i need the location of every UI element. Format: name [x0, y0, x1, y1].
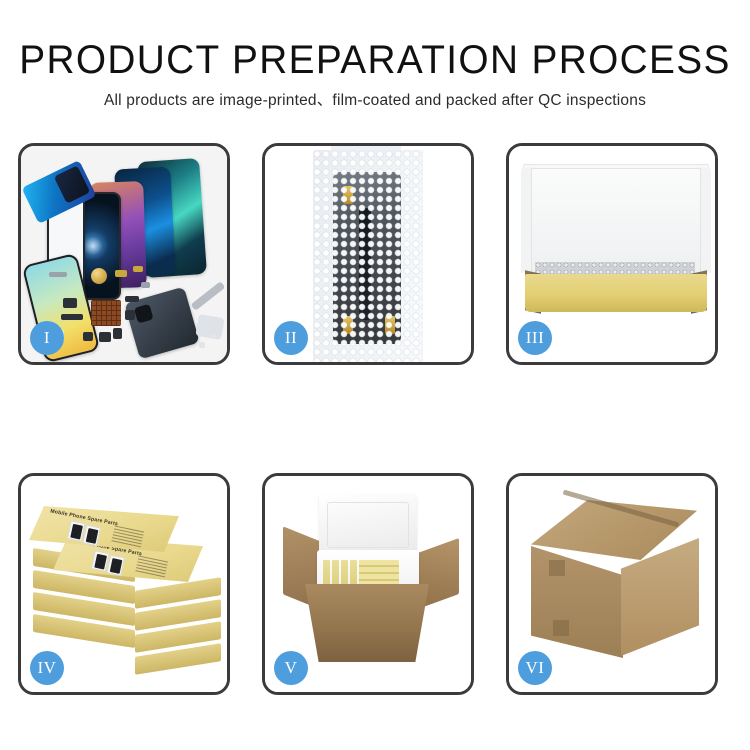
part-icon: [61, 314, 83, 320]
carton-left-face: [531, 546, 623, 658]
box-front-panel: [525, 274, 707, 312]
step-panel-3-open-kraft-box: III: [506, 143, 718, 365]
step-badge-6: VI: [518, 651, 552, 685]
page-subtitle: All products are image-printed、film-coat…: [0, 91, 750, 111]
part-icon: [141, 282, 150, 288]
step-badge-4: IV: [30, 651, 64, 685]
part-icon: [49, 272, 67, 277]
steps-grid: I II: [18, 143, 732, 695]
part-icon: [125, 296, 139, 302]
part-icon: [133, 266, 143, 272]
step-numeral: II: [285, 328, 297, 348]
step-panel-4-stacked-boxes: Mobile Phone Spare Parts Mobile Phone Sp…: [18, 473, 230, 695]
page-title: PRODUCT PREPARATION PROCESS: [11, 38, 739, 82]
step-numeral: V: [285, 658, 298, 678]
part-icon: [113, 328, 122, 339]
step-badge-5: V: [274, 651, 308, 685]
step-badge-1: I: [30, 321, 64, 355]
step-numeral: I: [44, 328, 50, 348]
part-icon: [211, 334, 216, 339]
box-thumbnail: [82, 525, 101, 547]
step-numeral: IV: [38, 658, 57, 678]
part-icon: [99, 332, 111, 342]
part-icon: [83, 332, 93, 341]
speaker-coil-icon: [91, 268, 107, 284]
box-spec-lines: [111, 525, 144, 549]
carton-body: [305, 584, 429, 662]
carton-tape-lower: [553, 620, 569, 636]
bubble-bag: [313, 150, 423, 362]
bubble-texture: [313, 150, 423, 362]
box-thumbnail: [106, 555, 125, 577]
part-icon: [199, 342, 205, 348]
step-panel-5-foam-carton: V: [262, 473, 474, 695]
header: PRODUCT PREPARATION PROCESS All products…: [0, 0, 750, 111]
step-numeral: VI: [526, 658, 545, 678]
chip-board-icon: [91, 300, 121, 326]
step-badge-2: II: [274, 321, 308, 355]
part-icon: [125, 310, 135, 320]
tweezers-icon: [191, 281, 226, 311]
step-numeral: III: [526, 328, 544, 348]
foam-box-lid: [319, 494, 417, 556]
step-panel-2-bubble-wrap: II: [262, 143, 474, 365]
product-preparation-infographic: PRODUCT PREPARATION PROCESS All products…: [0, 0, 750, 750]
part-icon: [63, 298, 77, 308]
part-icon: [115, 270, 127, 277]
carton-tape-upper: [549, 560, 565, 576]
step-panel-6-sealed-carton: VI: [506, 473, 718, 695]
box-stack: Mobile Phone Spare Parts Mobile Phone Sp…: [27, 494, 227, 680]
step-badge-3: III: [518, 321, 552, 355]
repair-tool-icon: [195, 314, 224, 340]
step-panel-1-phone-parts: I: [18, 143, 230, 365]
